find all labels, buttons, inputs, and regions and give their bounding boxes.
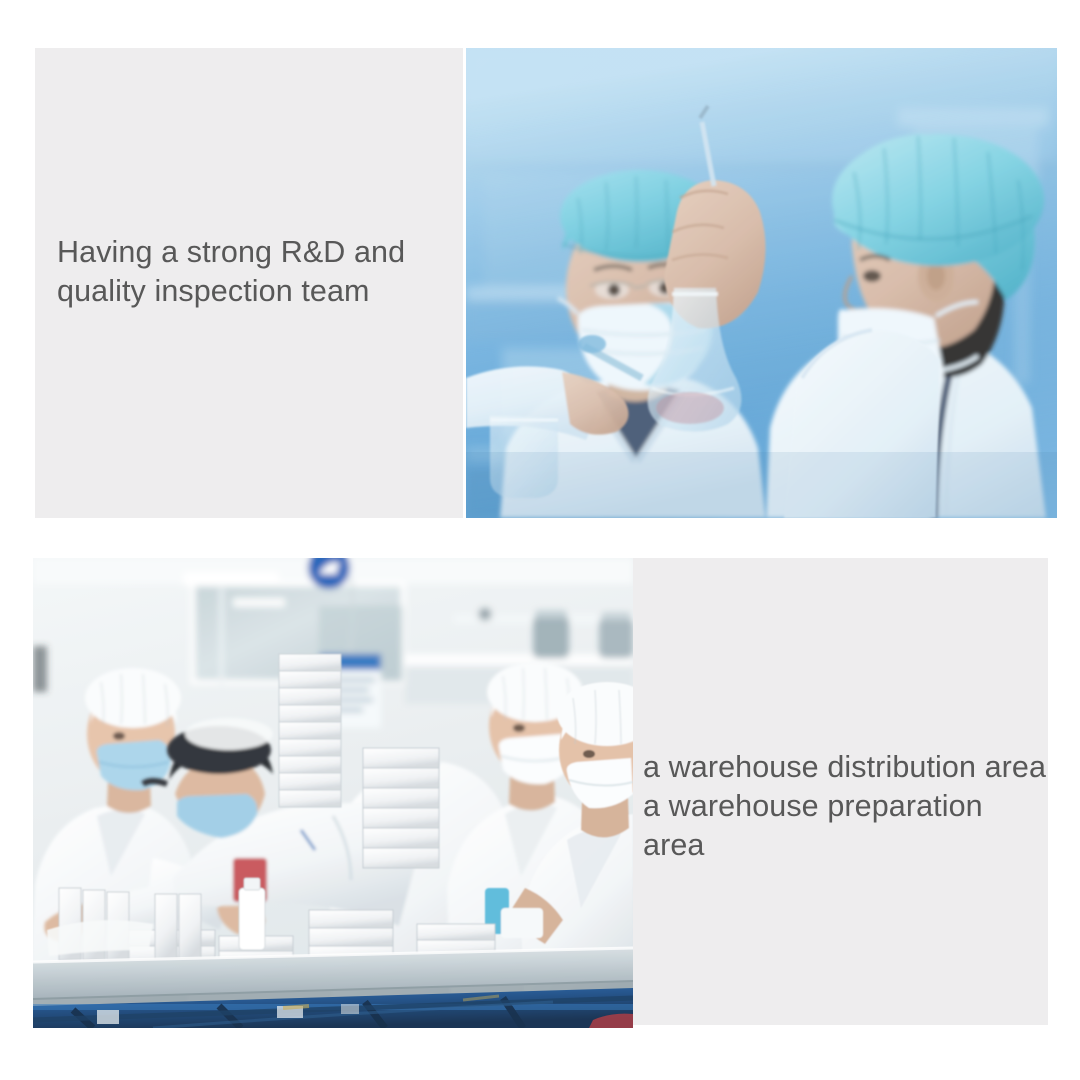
warehouse-packing-photo (33, 558, 633, 1028)
lab-quality-inspection-photo (466, 48, 1057, 518)
caption-text-warehouse: a warehouse distribution area a warehous… (643, 748, 1048, 865)
page-root: Having a strong R&D and quality inspecti… (0, 0, 1080, 1080)
caption-text-rnd: Having a strong R&D and quality inspecti… (57, 233, 457, 311)
lab-photo-svg (466, 48, 1057, 518)
section-warehouse-areas: a warehouse distribution area a warehous… (33, 558, 1048, 1028)
warehouse-photo-svg (33, 558, 633, 1028)
section-rnd-quality: Having a strong R&D and quality inspecti… (35, 48, 1057, 518)
